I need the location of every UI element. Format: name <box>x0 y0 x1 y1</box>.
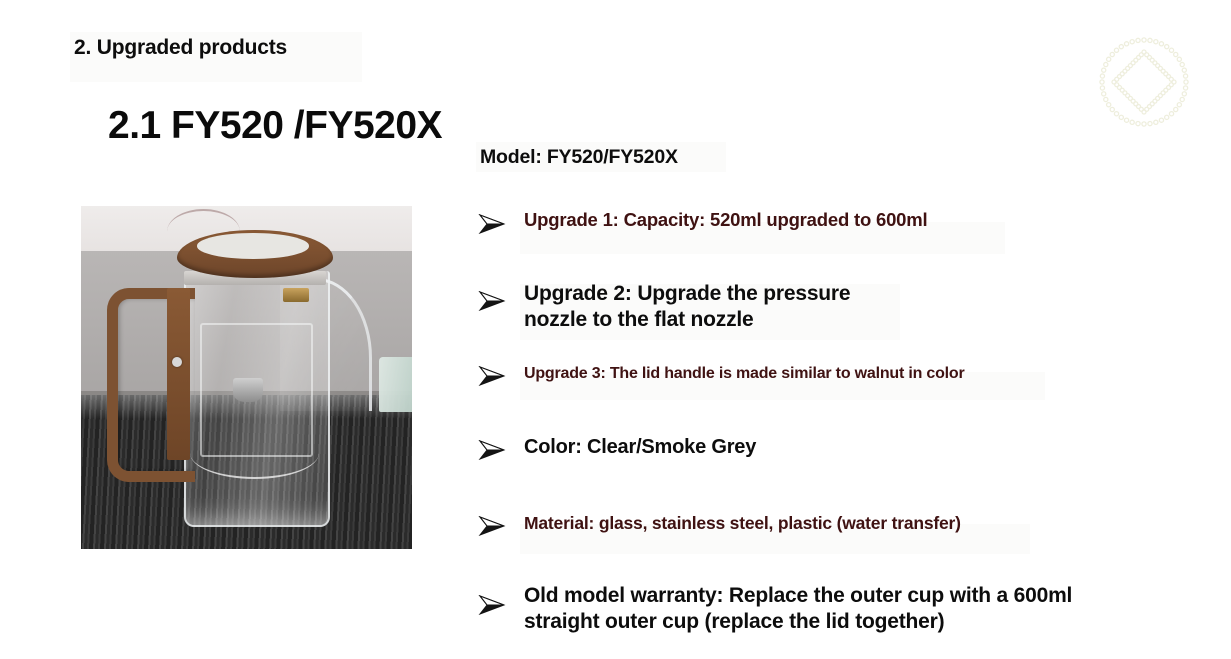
list-item: Upgrade 2: Upgrade the pressure nozzle t… <box>478 281 1178 358</box>
list-item: Upgrade 3: The lid handle is made simila… <box>478 358 1178 433</box>
list-item: Color: Clear/Smoke Grey <box>478 433 1178 509</box>
list-item-label: Upgrade 1: Capacity: 520ml upgraded to 6… <box>524 206 927 232</box>
list-item: Upgrade 1: Capacity: 520ml upgraded to 6… <box>478 206 1178 281</box>
list-item-label: Color: Clear/Smoke Grey <box>524 433 756 459</box>
arrowhead-bullet-icon <box>478 509 524 536</box>
model-line: Model: FY520/FY520X <box>480 146 678 169</box>
kettle-handle-screw <box>172 357 182 367</box>
product-photo <box>81 206 412 549</box>
list-item: Material: glass, stainless steel, plasti… <box>478 509 1178 583</box>
kettle-brass-clip <box>283 288 309 302</box>
arrowhead-bullet-icon <box>478 583 524 615</box>
page-title: 2.1 FY520 /FY520X <box>108 104 442 148</box>
list-item-label: Material: glass, stainless steel, plasti… <box>524 509 961 534</box>
kettle-flat-nozzle <box>233 378 263 402</box>
list-item-label: Upgrade 3: The lid handle is made simila… <box>524 358 965 384</box>
bullet-list: Upgrade 1: Capacity: 520ml upgraded to 6… <box>478 206 1178 643</box>
kettle-handle-mount <box>167 288 190 460</box>
arrowhead-bullet-icon <box>478 433 524 460</box>
list-item: Old model warranty: Replace the outer cu… <box>478 583 1178 643</box>
list-item-label: Upgrade 2: Upgrade the pressure nozzle t… <box>524 281 850 332</box>
arrowhead-bullet-icon <box>478 206 524 234</box>
arrowhead-bullet-icon <box>478 281 524 311</box>
section-title: 2. Upgraded products <box>74 36 287 60</box>
list-item-label: Old model warranty: Replace the outer cu… <box>524 583 1072 634</box>
watermark-logo-icon <box>1090 32 1198 132</box>
arrowhead-bullet-icon <box>478 358 524 386</box>
photo-side-object <box>379 357 412 412</box>
